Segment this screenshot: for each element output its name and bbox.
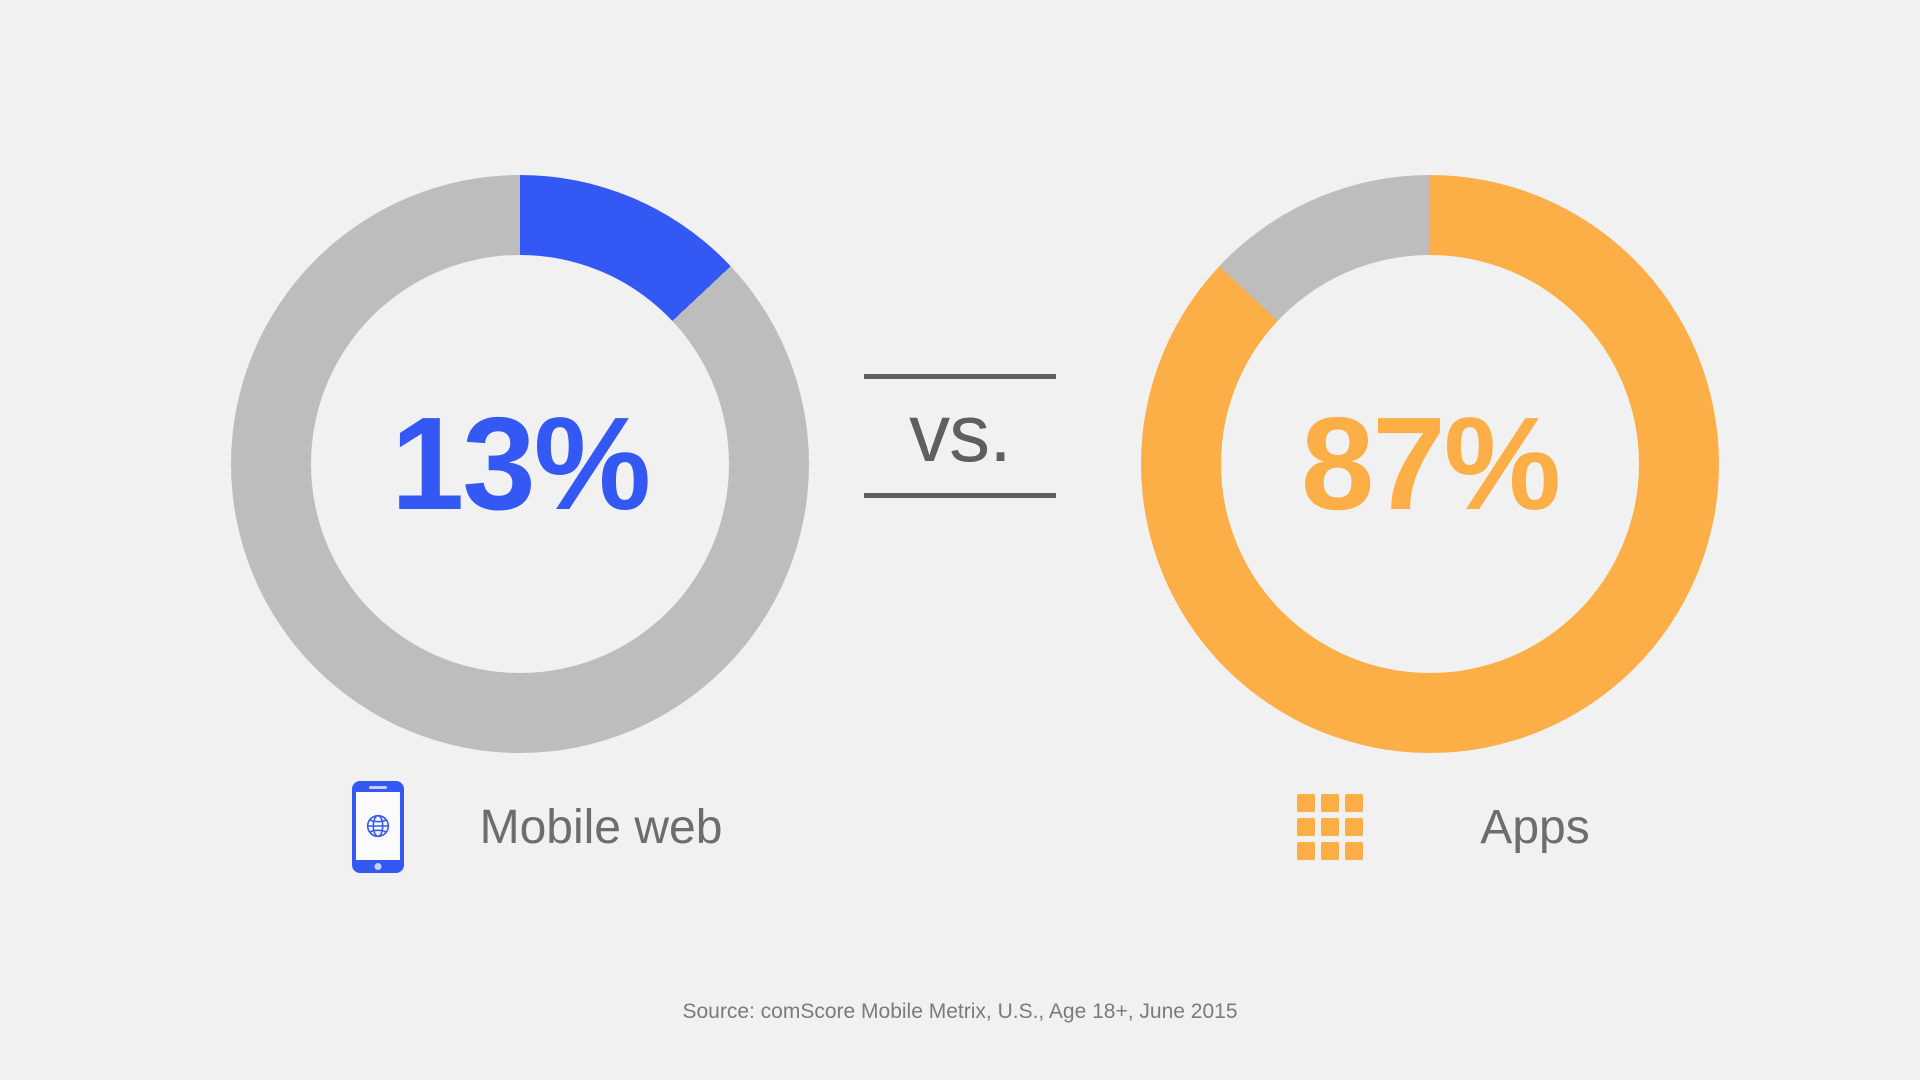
apps-legend-label: Apps [1480, 800, 1589, 855]
phone-screen [356, 792, 400, 860]
mobile-web-donut-chart: 13% [231, 175, 809, 753]
phone-speaker [369, 786, 387, 789]
apps-grid-icon [1270, 794, 1390, 860]
mobile-web-legend: Mobile web [110, 772, 940, 882]
grid-cell [1321, 818, 1339, 836]
grid-icon-cells [1297, 794, 1363, 860]
apps-percentage: 87% [1301, 398, 1559, 530]
source-note: Source: comScore Mobile Metrix, U.S., Ag… [0, 1000, 1920, 1024]
grid-cell [1345, 842, 1363, 860]
infographic-stage: 13% [0, 0, 1920, 1080]
mobile-web-panel: 13% [110, 0, 930, 900]
mobile-web-percentage: 13% [391, 398, 649, 530]
phone-home-button [374, 863, 381, 870]
grid-cell [1321, 842, 1339, 860]
mobile-phone-globe-icon [318, 781, 438, 873]
grid-cell [1297, 842, 1315, 860]
grid-cell [1297, 818, 1315, 836]
mobile-web-legend-label: Mobile web [480, 800, 723, 855]
grid-cell [1345, 794, 1363, 812]
grid-cell [1321, 794, 1339, 812]
grid-cell [1297, 794, 1315, 812]
apps-legend: Apps [1020, 772, 1840, 882]
grid-cell [1345, 818, 1363, 836]
apps-panel: 87% Apps [1020, 0, 1840, 900]
apps-donut-chart: 87% [1141, 175, 1719, 753]
phone-body [352, 781, 404, 873]
